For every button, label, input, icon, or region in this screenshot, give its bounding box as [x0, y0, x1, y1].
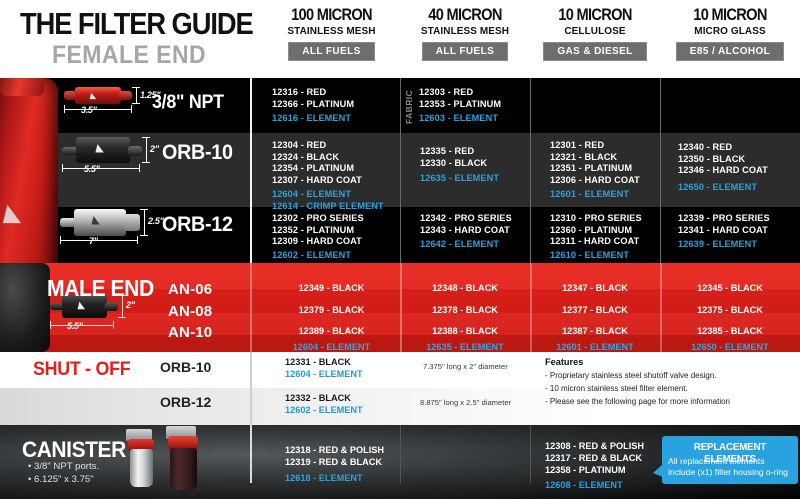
dimension-tick	[62, 164, 63, 172]
table-row	[0, 388, 800, 425]
dimension-line	[146, 137, 147, 163]
features-title: Features	[545, 357, 583, 367]
column-fuel-badge: ALL FUELS	[422, 42, 508, 61]
table-cell: 12304 - RED 12324 - BLACK 12354 - PLATIN…	[272, 140, 384, 213]
canister-bullet: • 3/8" NPT ports.	[28, 461, 99, 472]
column-divider	[400, 78, 401, 263]
section-subtitle-female-end: FEMALE END	[52, 41, 206, 70]
table-cell: 12332 - BLACK 12602 - ELEMENT	[285, 393, 363, 416]
table-cell-element: 12635 - ELEMENT	[400, 342, 530, 352]
row-label-an-06: AN-06	[168, 281, 212, 298]
table-cell: 12348 - BLACK	[400, 283, 530, 293]
column-divider	[250, 352, 252, 425]
dimension-tick	[132, 103, 140, 104]
dimension-length: 3.5"	[81, 105, 97, 115]
bottle-cap	[0, 78, 44, 96]
table-cell-element: 12650 - ELEMENT	[660, 342, 800, 352]
table-cell: 12335 - RED 12330 - BLACK 12635 - ELEMEN…	[420, 146, 499, 185]
table-cell: 12331 - BLACK 12604 - ELEMENT	[285, 357, 363, 380]
brand-logo: ◣	[4, 200, 38, 226]
page-title: THE FILTER GUIDE	[20, 6, 253, 42]
table-cell: 12316 - RED 12366 - PLATINUM 12616 - ELE…	[272, 87, 354, 125]
table-cell: 12389 - BLACK	[263, 326, 400, 336]
column-header-10-micron-micro-glass: 10 MICRON MICRO GLASS E85 / ALCOHOL	[660, 6, 800, 61]
dimension-tick	[137, 236, 138, 244]
column-divider	[250, 263, 252, 352]
table-cell: 12378 - BLACK	[400, 305, 530, 315]
dimension-line	[62, 168, 140, 169]
column-header-100-micron: 100 MICRON STAINLESS MESH ALL FUELS	[263, 6, 400, 61]
table-cell-element: 12604 - ELEMENT	[263, 342, 400, 352]
column-media-label: STAINLESS MESH	[403, 25, 527, 38]
row-label-an-08: AN-08	[168, 303, 212, 320]
shutoff-dimension-orb10: 7.375" long x 2" diameter	[423, 362, 508, 371]
table-cell: 12375 - BLACK	[660, 305, 800, 315]
column-micron-label: 10 MICRON	[670, 6, 790, 24]
dimension-tick	[142, 137, 150, 138]
shutoff-dimension-orb12: 8.875" long x 2.5" diameter	[420, 398, 511, 407]
dimension-line	[144, 209, 145, 236]
table-cell: 12310 - PRO SERIES 12360 - PLATINUM 1231…	[550, 213, 642, 261]
table-cell-element: 12601 - ELEMENT	[530, 342, 660, 352]
fabric-label: FABRIC	[404, 84, 414, 124]
column-divider	[400, 425, 401, 483]
dimension-line	[64, 109, 132, 110]
dimension-tick	[140, 209, 148, 210]
section-label-canister: CANISTER	[22, 437, 126, 463]
feature-item: - 10 micron stainless steel filter eleme…	[545, 384, 688, 393]
feature-item: - Please see the following page for more…	[545, 397, 730, 406]
column-fuel-badge: ALL FUELS	[288, 42, 374, 61]
table-cell: 12340 - RED 12350 - BLACK 12346 - HARD C…	[678, 142, 768, 193]
column-micron-label: 10 MICRON	[539, 6, 651, 24]
table-cell: 12303 - RED 12353 - PLATINUM 12603 - ELE…	[419, 87, 501, 125]
dimension-line	[136, 87, 137, 104]
column-divider	[250, 78, 252, 263]
dimension-diameter: 2"	[150, 144, 159, 154]
column-media-label: MICRO GLASS	[664, 25, 797, 38]
column-header-40-micron: 40 MICRON STAINLESS MESH ALL FUELS	[400, 6, 530, 61]
table-cell: 12388 - BLACK	[400, 326, 530, 336]
column-divider	[530, 78, 531, 263]
row-label-orb-12: ORB-12	[162, 213, 233, 237]
dimension-length: 5.5"	[67, 321, 83, 331]
row-label-orb-12-shutoff: ORB-12	[160, 394, 211, 410]
column-fuel-badge: E85 / ALCOHOL	[676, 42, 784, 61]
product-photo-red-bottle: ◣	[0, 78, 58, 263]
column-micron-label: 40 MICRON	[409, 6, 521, 24]
header: THE FILTER GUIDE FEMALE END 100 MICRON S…	[0, 0, 800, 78]
column-divider	[250, 425, 252, 483]
column-micron-label: 100 MICRON	[273, 6, 391, 24]
dimension-tick	[60, 236, 61, 244]
dimension-tick	[139, 164, 140, 172]
table-cell: 12342 - PRO SERIES 12343 - HARD COAT 126…	[420, 213, 512, 251]
row-label-38-npt: 3/8" NPT	[152, 92, 224, 114]
table-cell: 12349 - BLACK	[263, 283, 400, 293]
column-media-label: STAINLESS MESH	[266, 25, 396, 38]
dimension-line	[60, 240, 138, 241]
filter-guide-page: THE FILTER GUIDE FEMALE END 100 MICRON S…	[0, 0, 800, 499]
dimension-tick	[131, 105, 132, 113]
column-divider	[660, 78, 661, 263]
column-fuel-badge: GAS & DIESEL	[543, 42, 646, 61]
table-cell: 12302 - PRO SERIES 12352 - PLATINUM 1230…	[272, 213, 364, 261]
column-header-10-micron-cellulose: 10 MICRON CELLULOSE GAS & DIESEL	[530, 6, 660, 61]
feature-item: - Proprietary stainless steel shutoff va…	[545, 371, 717, 380]
product-photo-an-fitting	[0, 263, 50, 352]
table-cell: 12345 - BLACK	[660, 283, 800, 293]
dimension-length: 7"	[89, 236, 98, 246]
dimension-length: 5.5"	[84, 164, 100, 174]
table-cell: 12385 - BLACK	[660, 326, 800, 336]
table-cell: 12339 - PRO SERIES 12341 - HARD COAT 126…	[678, 213, 770, 251]
dimension-tick	[64, 105, 65, 113]
row-label-orb-10: ORB-10	[162, 141, 233, 165]
replacement-elements-subtitle: All replacement elements include (x1) fi…	[668, 456, 794, 477]
table-cell: 12377 - BLACK	[530, 305, 660, 315]
table-cell: 12308 - RED & POLISH 12317 - RED & BLACK…	[545, 440, 644, 491]
dimension-tick	[140, 235, 148, 236]
table-cell: 12318 - RED & POLISH 12319 - RED & BLACK…	[285, 444, 384, 484]
section-label-male-end: MALE END	[47, 275, 154, 302]
column-media-label: CELLULOSE	[533, 25, 657, 38]
table-cell: 12387 - BLACK	[530, 326, 660, 336]
row-label-an-10: AN-10	[168, 324, 212, 341]
table-cell: 12347 - BLACK	[530, 283, 660, 293]
column-divider	[530, 425, 531, 483]
canister-bullet: • 6.125" x 3.75"	[28, 474, 94, 485]
dimension-tick	[132, 87, 140, 88]
female-end-section: ◣ ◣ 3.5" 1.25" 3/8" NPT ◣ 5.5"	[0, 78, 800, 263]
dimension-tick	[142, 162, 150, 163]
section-label-shut-off: SHUT - OFF	[33, 359, 130, 381]
row-label-orb-10-shutoff: ORB-10	[160, 359, 211, 375]
table-cell: 12379 - BLACK	[263, 305, 400, 315]
table-cell: 12301 - RED 12321 - BLACK 12351 - PLATIN…	[550, 140, 640, 201]
